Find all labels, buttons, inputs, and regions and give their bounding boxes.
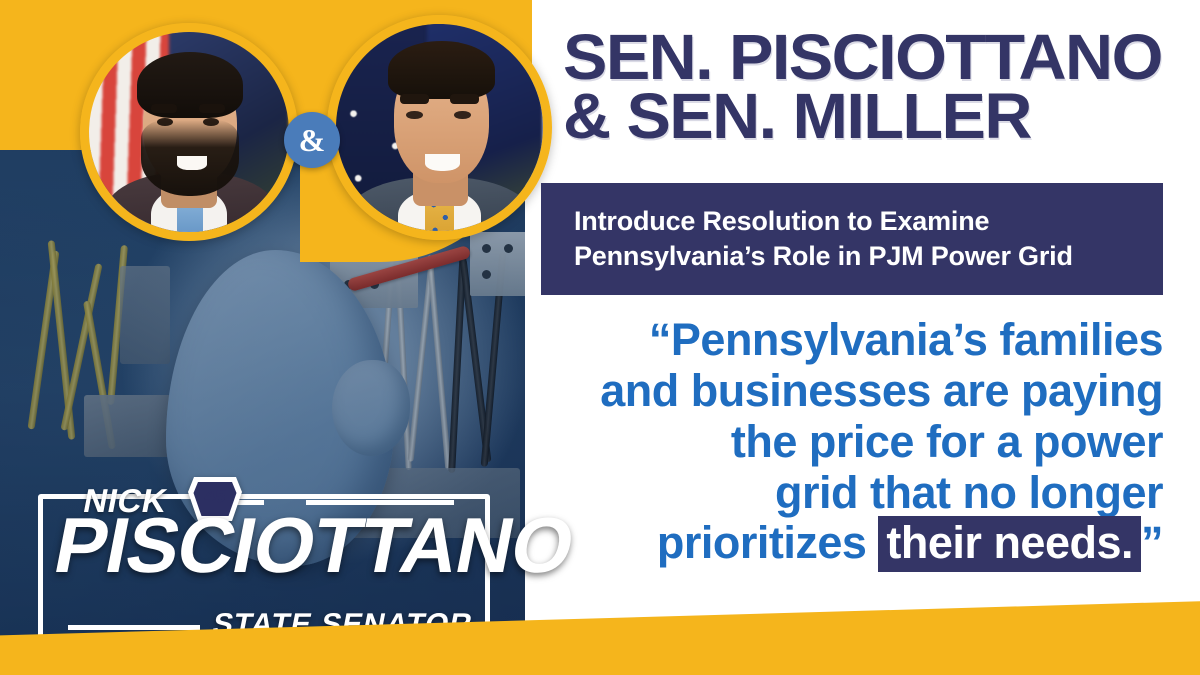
campaign-logo: NICK 45 PISCIOTTANO STATE SENATOR bbox=[38, 494, 490, 642]
subtitle-text: Introduce Resolution to Examine Pennsylv… bbox=[541, 204, 1091, 274]
graphic-canvas: & NICK 45 PISCIOTTANO STATE SENATOR SEN.… bbox=[0, 0, 1200, 675]
quote-line-3: the price for a power bbox=[541, 417, 1163, 468]
pull-quote: “Pennsylvania’s families and businesses … bbox=[541, 315, 1163, 569]
subtitle-line-1: Introduce Resolution to Examine bbox=[574, 204, 1073, 239]
avatar-pisciottano bbox=[80, 23, 298, 241]
headline-line-2: & SEN. MILLER bbox=[563, 87, 1200, 146]
ampersand-symbol: & bbox=[299, 124, 326, 156]
ampersand-badge: & bbox=[284, 112, 340, 168]
quote-line-2: and businesses are paying bbox=[541, 366, 1163, 417]
quote-line-5: prioritizes their needs.” bbox=[541, 518, 1163, 569]
logo-subtitle-rule bbox=[68, 625, 200, 630]
logo-last-name: PISCIOTTANO bbox=[49, 508, 484, 583]
subtitle-line-2: Pennsylvania’s Role in PJM Power Grid bbox=[574, 239, 1073, 274]
subtitle-banner: Introduce Resolution to Examine Pennsylv… bbox=[541, 183, 1163, 295]
avatar-miller bbox=[327, 15, 552, 240]
avatar-image-left bbox=[89, 32, 289, 232]
avatar-image-right bbox=[336, 24, 543, 231]
quote-line-4: grid that no longer bbox=[541, 468, 1163, 519]
quote-highlight: their needs. bbox=[878, 516, 1141, 572]
quote-close-mark: ” bbox=[1141, 517, 1163, 568]
quote-line-5-prefix: prioritizes bbox=[657, 517, 879, 568]
quote-line-1: “Pennsylvania’s families bbox=[541, 315, 1163, 366]
page-title: SEN. PISCIOTTANO & SEN. MILLER bbox=[563, 28, 1200, 146]
